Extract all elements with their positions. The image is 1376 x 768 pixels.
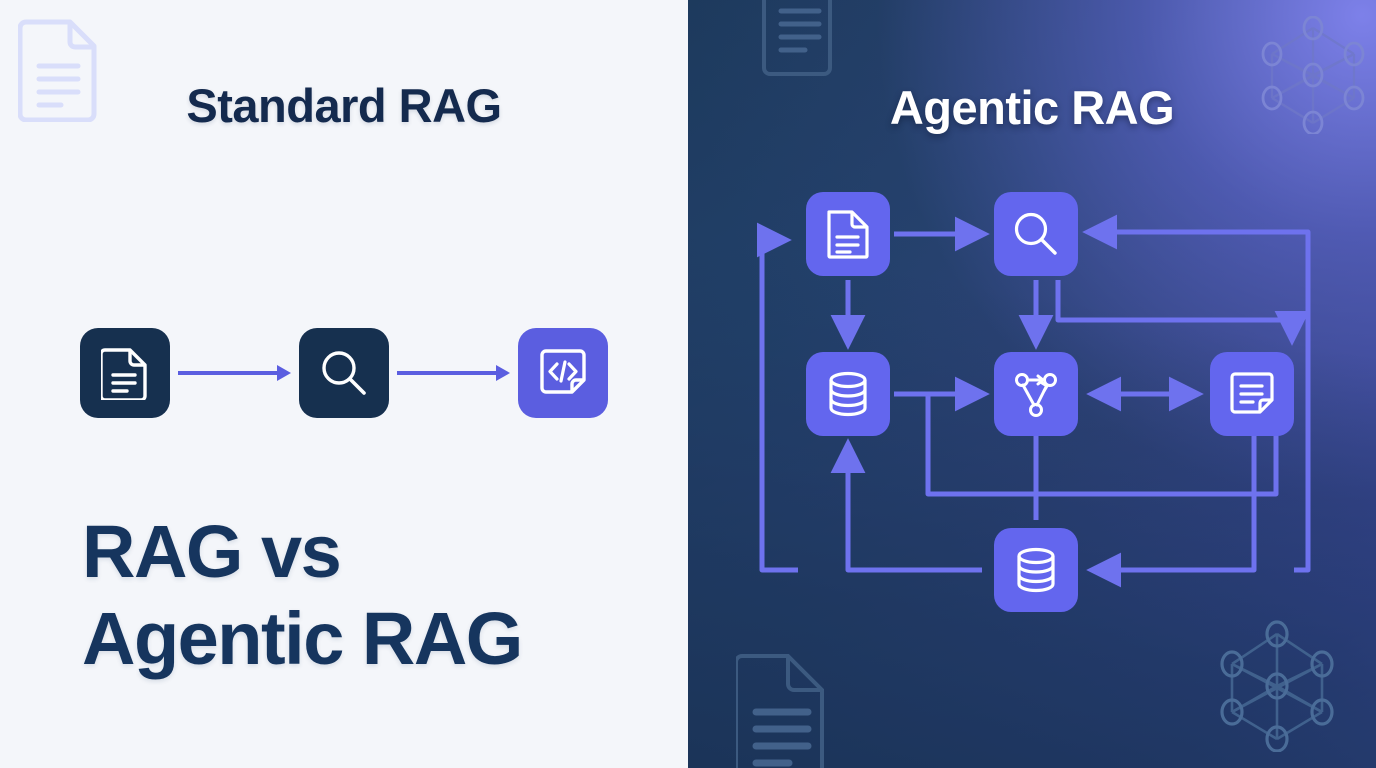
graph-node-search[interactable]: [994, 192, 1078, 276]
page-heading: RAG vs Agentic RAG: [82, 508, 522, 683]
comparison-infographic: Standard RAG: [0, 0, 1376, 768]
graph-node-doc[interactable]: [806, 192, 890, 276]
code-file-icon: [537, 347, 589, 399]
edge-memory-doc-feedback: [762, 240, 798, 570]
edge-search-notes: [1058, 280, 1292, 340]
agentic-rag-panel: Agentic RAG: [688, 0, 1376, 768]
database-icon: [1012, 546, 1060, 594]
search-icon: [1011, 209, 1061, 259]
document-icon: [826, 209, 870, 259]
arrow-right-icon: [397, 368, 510, 378]
standard-rag-flow: [80, 328, 608, 418]
arrow-right-icon: [178, 368, 291, 378]
flow-node-generate[interactable]: [518, 328, 608, 418]
standard-rag-panel: Standard RAG: [0, 0, 688, 768]
page-heading-line1: RAG vs: [82, 508, 522, 595]
page-title-agentic-rag: Agentic RAG: [688, 80, 1376, 135]
edge-memory-store: [848, 444, 982, 570]
graph-node-notes[interactable]: [1210, 352, 1294, 436]
flow-node-ingest[interactable]: [80, 328, 170, 418]
database-icon: [824, 370, 872, 418]
graph-node-router[interactable]: [994, 352, 1078, 436]
graph-node-memory[interactable]: [994, 528, 1078, 612]
flow-node-retrieve[interactable]: [299, 328, 389, 418]
search-icon: [318, 347, 370, 399]
note-file-icon: [1228, 370, 1276, 418]
edge-notes-memory: [1092, 436, 1254, 570]
page-title-standard-rag: Standard RAG: [0, 78, 688, 133]
branch-router-icon: [1011, 369, 1061, 419]
document-icon: [101, 346, 149, 400]
page-heading-line2: Agentic RAG: [82, 595, 522, 682]
graph-node-store[interactable]: [806, 352, 890, 436]
